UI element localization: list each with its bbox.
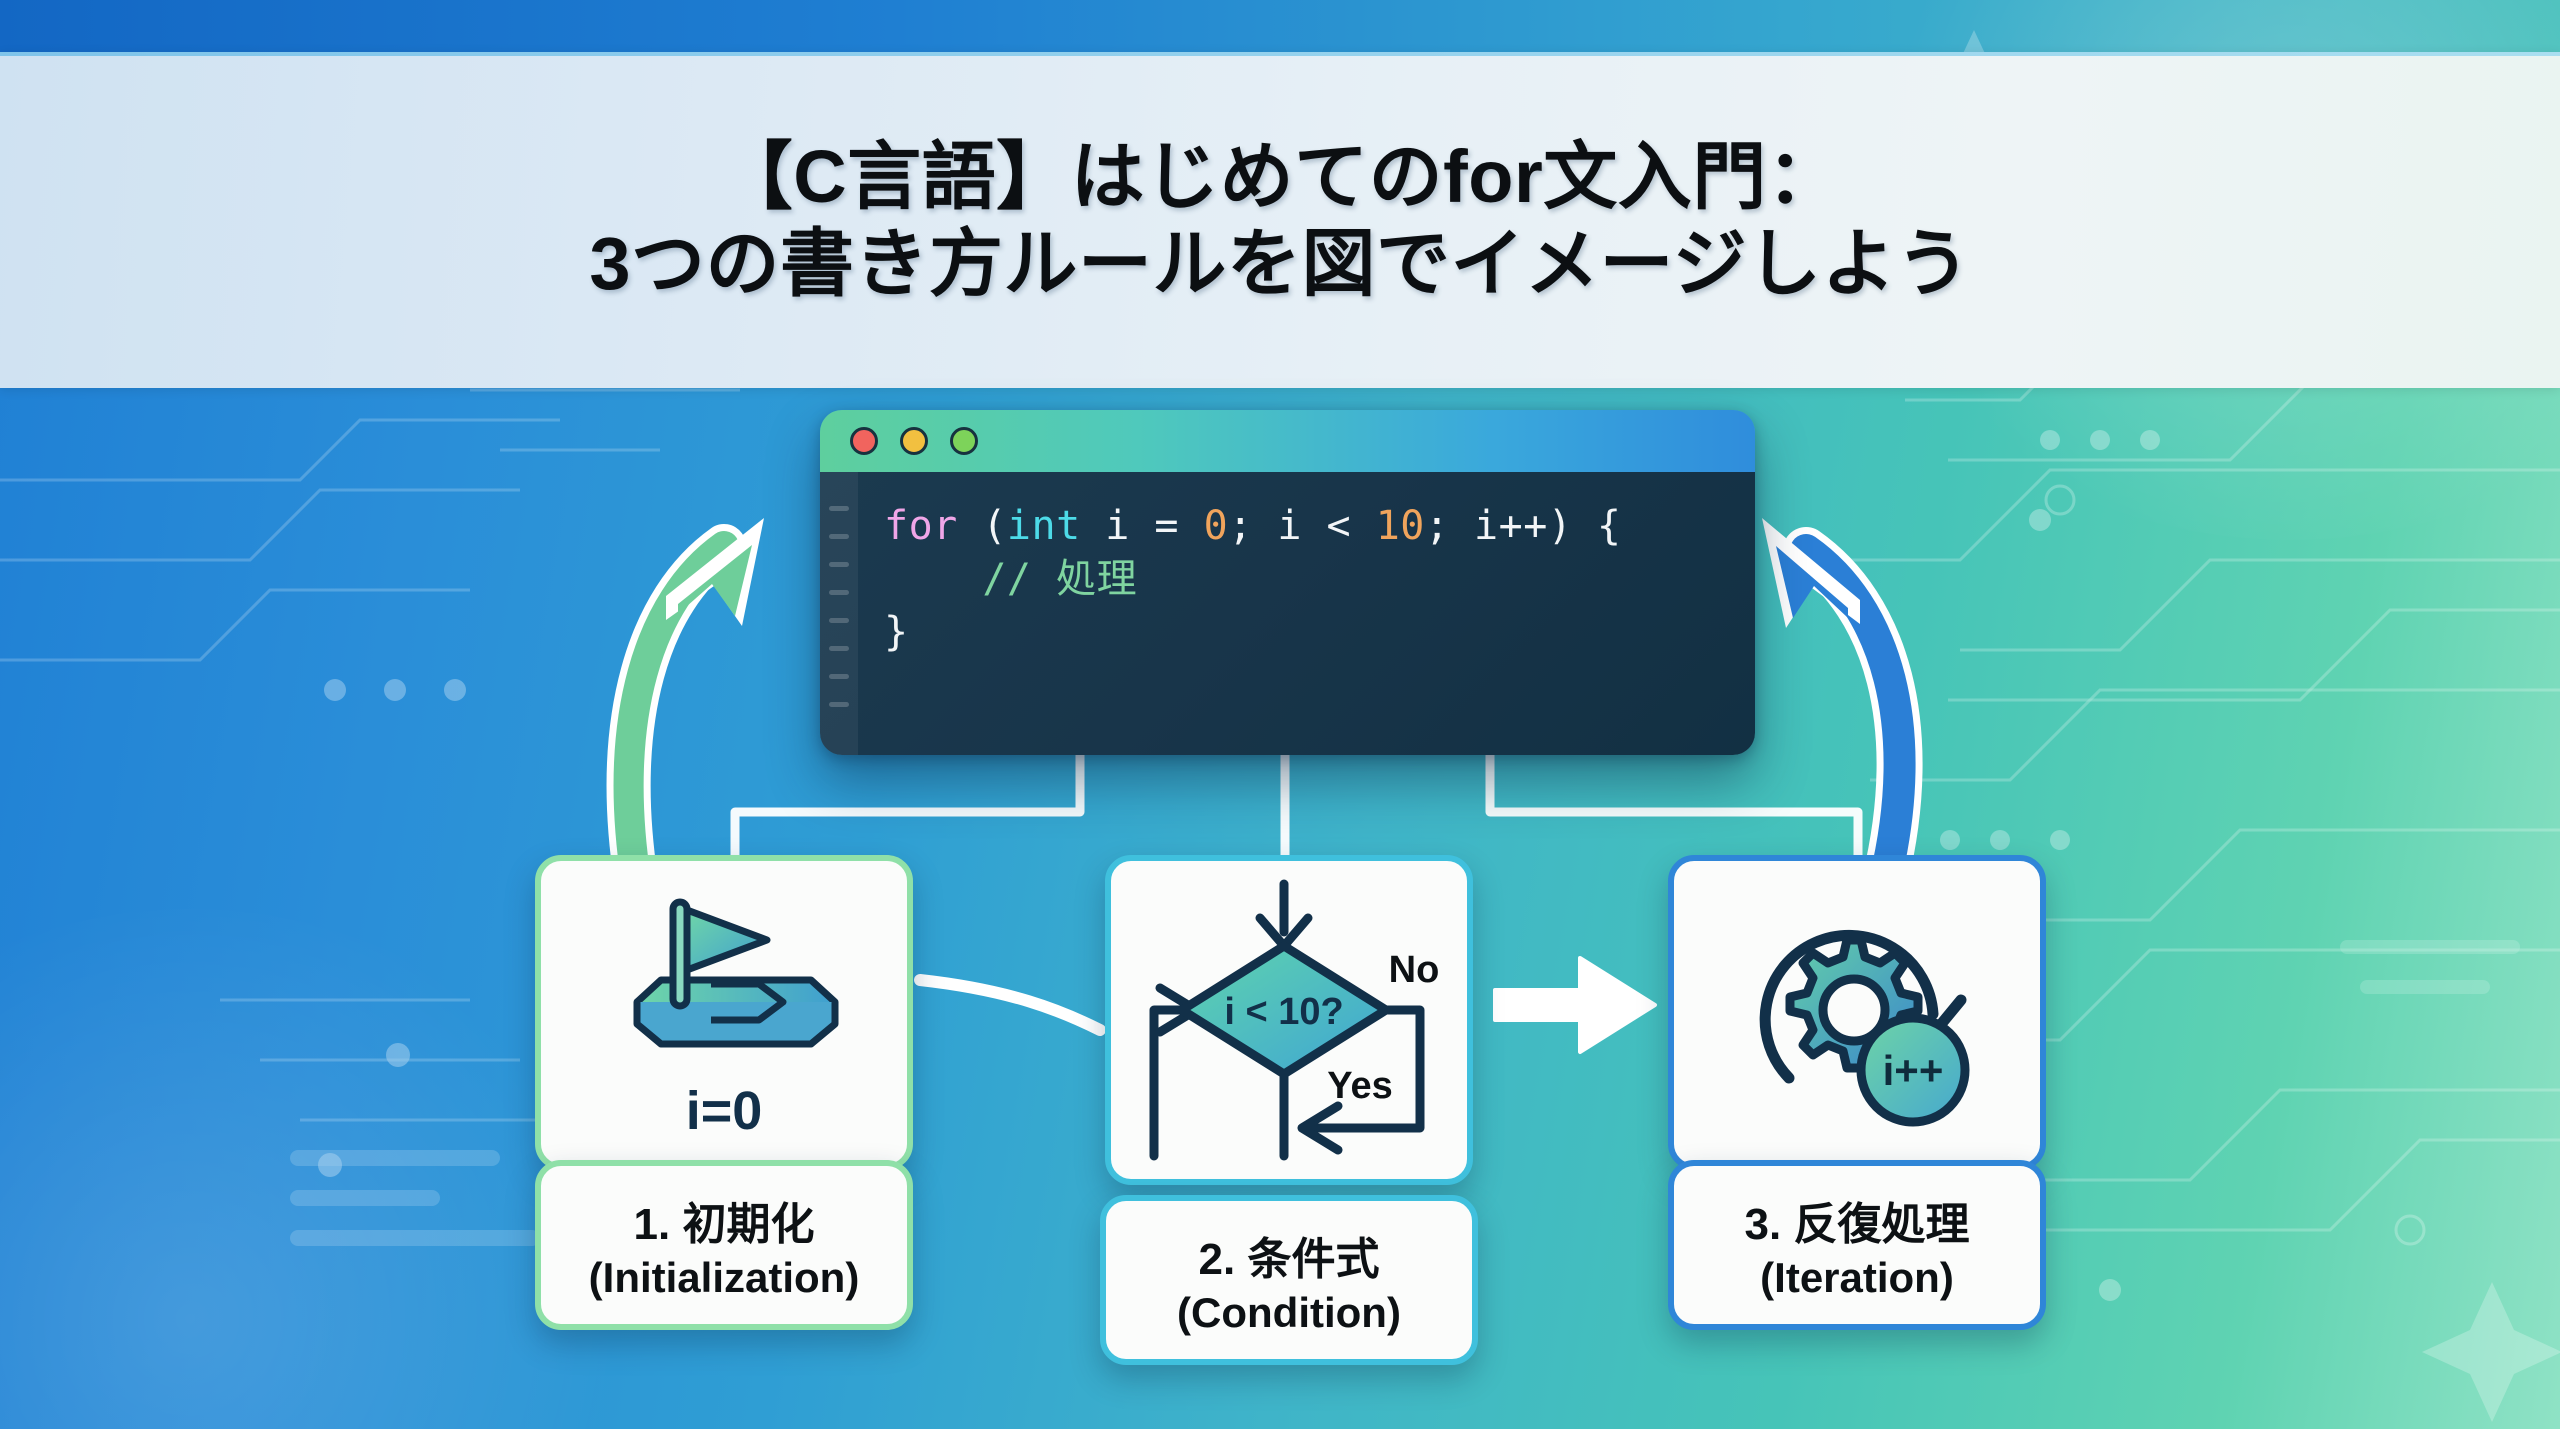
code-token-condition: ; i < bbox=[1228, 503, 1376, 549]
page-title-line-1: 【C言語】はじめてのfor文入門： bbox=[719, 133, 1842, 220]
step-label-iteration: 3. 反復処理 (Iteration) bbox=[1668, 1160, 2046, 1330]
step-label-en-condition: (Condition) bbox=[1177, 1289, 1401, 1337]
close-icon[interactable] bbox=[850, 427, 878, 455]
maximize-icon[interactable] bbox=[950, 427, 978, 455]
code-window: for (int i = 0; i < 10; i++) { // 処理 } bbox=[820, 410, 1755, 755]
step-label-jp-iteration: 3. 反復処理 bbox=[1745, 1188, 1970, 1252]
code-token-number-zero: 0 bbox=[1204, 503, 1229, 549]
page-title-line-2: 3つの書き方ルールを図でイメージしよう bbox=[589, 220, 1970, 307]
minimize-icon[interactable] bbox=[900, 427, 928, 455]
code-gutter bbox=[820, 472, 858, 755]
code-line-3: } bbox=[884, 606, 1755, 659]
code-token-number-ten: 10 bbox=[1376, 503, 1425, 549]
step-label-en-initialization: (Initialization) bbox=[589, 1254, 860, 1302]
svg-text:i++: i++ bbox=[1883, 1047, 1944, 1094]
diamond-label: i < 10? bbox=[1224, 991, 1343, 1033]
code-window-body: for (int i = 0; i < 10; i++) { // 処理 } bbox=[820, 472, 1755, 755]
code-token-init-assign: i = bbox=[1081, 503, 1204, 549]
gear-refresh-icon: i++ bbox=[1727, 888, 1987, 1138]
step-icon-caption-initialization: i=0 bbox=[686, 1080, 763, 1142]
title-band: 【C言語】はじめてのfor文入門： 3つの書き方ルールを図でイメージしよう bbox=[0, 52, 2560, 388]
flag-on-platform-icon bbox=[599, 884, 849, 1074]
code-token-open-paren: ( bbox=[958, 503, 1007, 549]
code-window-titlebar bbox=[820, 410, 1755, 472]
step-label-condition: 2. 条件式 (Condition) bbox=[1100, 1195, 1478, 1365]
step-label-jp-condition: 2. 条件式 bbox=[1199, 1223, 1380, 1287]
code-line-1: for (int i = 0; i < 10; i++) { bbox=[884, 500, 1755, 553]
decision-diamond-icon: i < 10? No Yes bbox=[1124, 870, 1454, 1170]
svg-text:No: No bbox=[1389, 949, 1440, 991]
step-label-en-iteration: (Iteration) bbox=[1760, 1254, 1954, 1302]
step-card-condition[interactable]: i < 10? No Yes bbox=[1105, 855, 1473, 1185]
code-token-close-brace: } bbox=[884, 609, 909, 655]
code-token-comment: // 処理 bbox=[884, 556, 1137, 602]
code-token-increment: ; i++) { bbox=[1425, 503, 1622, 549]
step-label-jp-initialization: 1. 初期化 bbox=[634, 1188, 815, 1252]
step-label-initialization: 1. 初期化 (Initialization) bbox=[535, 1160, 913, 1330]
step-card-iteration[interactable]: i++ bbox=[1668, 855, 2046, 1170]
step-card-initialization[interactable]: i=0 bbox=[535, 855, 913, 1170]
code-line-2: // 処理 bbox=[884, 553, 1755, 606]
code-token-keyword-for: for bbox=[884, 503, 958, 549]
infographic-canvas: 【C言語】はじめてのfor文入門： 3つの書き方ルールを図でイメージしよう bbox=[0, 0, 2560, 1429]
code-token-type-int: int bbox=[1007, 503, 1081, 549]
svg-text:Yes: Yes bbox=[1327, 1065, 1393, 1107]
